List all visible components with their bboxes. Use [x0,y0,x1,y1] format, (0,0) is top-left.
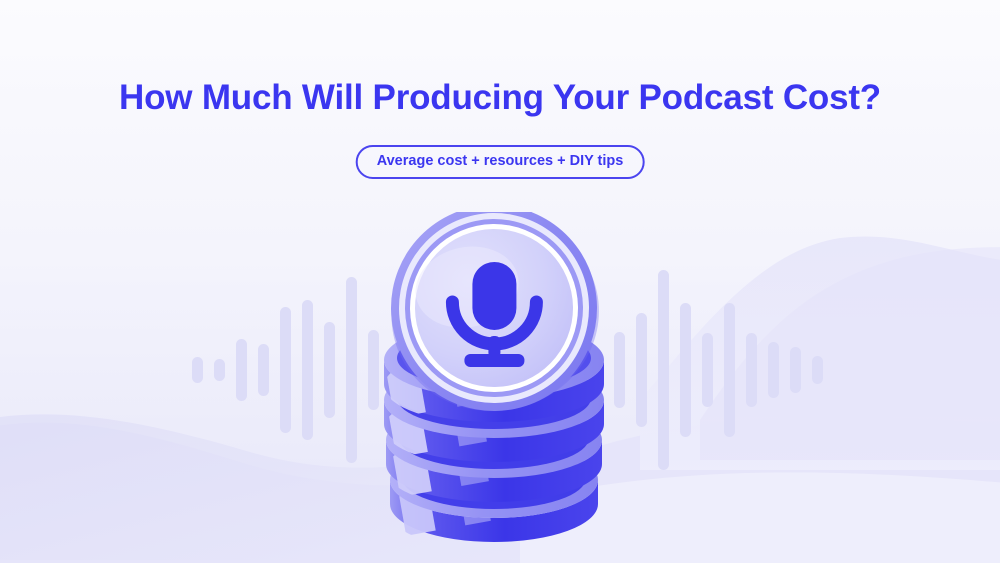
waveform-bar-right-9 [812,356,823,384]
hero-banner: How Much Will Producing Your Podcast Cos… [0,0,1000,563]
waveform-bar-left-5 [302,300,313,440]
waveform-bar-left-6 [324,322,335,418]
waveform-bar-left-4 [280,307,291,433]
waveform-bar-right-8 [790,347,801,393]
waveform-bar-right-6 [746,333,757,407]
waveform-bar-right-4 [702,333,713,407]
waveform-bar-left-0 [192,357,203,383]
waveform-bar-left-7 [346,277,357,463]
waveform-bar-right-2 [658,270,669,470]
waveform-bar-left-3 [258,344,269,396]
waveform-bar-right-3 [680,303,691,437]
waveform-bar-right-1 [636,313,647,427]
page-title: How Much Will Producing Your Podcast Cos… [0,78,1000,118]
waveform-bar-right-5 [724,303,735,437]
subtitle-pill: Average cost + resources + DIY tips [356,145,645,179]
waveform-bar-left-2 [236,339,247,401]
coin-stack-illustration [362,212,627,552]
waveform-bar-right-7 [768,342,779,398]
waveform-bar-left-1 [214,359,225,381]
